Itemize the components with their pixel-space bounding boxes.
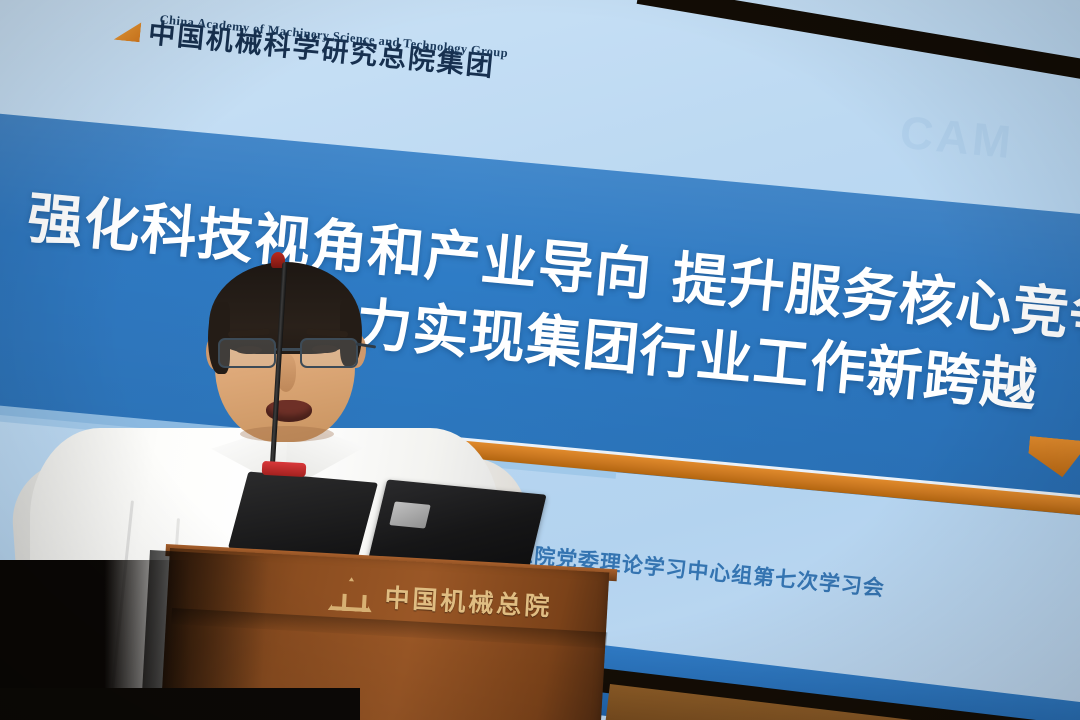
mountain-triangle-logo-icon <box>328 576 374 612</box>
lens-left <box>218 338 276 368</box>
microphone-base <box>262 461 307 477</box>
glasses-temple <box>356 342 376 348</box>
eyeglasses-icon <box>216 338 362 370</box>
foreground-floor <box>0 688 360 720</box>
conference-photo: 中国机械科学研究总院集团 China Academy of Machinery … <box>0 0 1080 720</box>
screen-watermark: CAM <box>898 105 1016 170</box>
podium-org-label: 中国机械总院 <box>384 578 554 623</box>
org-logo-icon <box>114 20 142 42</box>
lens-right <box>300 338 358 368</box>
teleprompter-board-icon <box>228 471 378 559</box>
laptop-sticker <box>389 501 430 528</box>
chin-shadow <box>240 426 334 442</box>
